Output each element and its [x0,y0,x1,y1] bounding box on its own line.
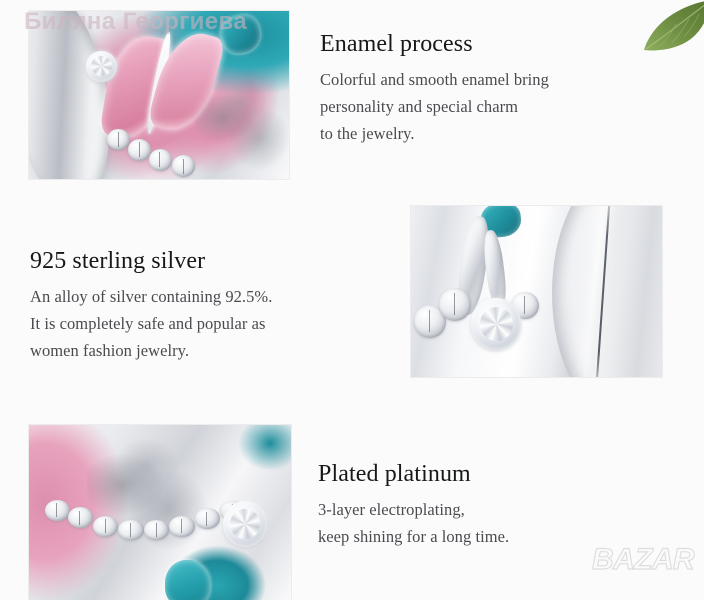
photo-platinum-content [29,425,291,600]
cubic-zirconia-stone [86,51,117,81]
feature-body-enamel: Colorful and smooth enamel bring persona… [320,67,660,147]
silver-bead [195,508,220,529]
silver-bead [172,155,195,177]
photo-sterling-content [411,206,662,377]
silver-bead [93,516,118,537]
feature-text-platinum: Plated platinum 3-layer electroplating, … [318,460,668,551]
feature-title-platinum: Plated platinum [318,460,668,488]
silver-bead [439,288,472,320]
silver-bead [144,520,169,541]
teal-enamel-accent [165,560,210,600]
silver-bead [169,516,194,537]
feature-body-sterling: An alloy of silver containing 92.5%. It … [30,284,370,364]
product-photo-sterling [410,205,663,378]
teal-enamel-accent [217,12,264,57]
silver-bead [68,507,93,528]
cubic-zirconia-stone [471,298,521,349]
silver-bead [149,149,172,171]
infographic-canvas: Enamel process Colorful and smooth ename… [0,0,704,600]
silver-bead [118,520,143,541]
product-photo-platinum [28,424,292,600]
feature-text-sterling: 925 sterling silver An alloy of silver c… [30,247,370,364]
photo-enamel-content [29,11,289,179]
feature-text-enamel: Enamel process Colorful and smooth ename… [320,30,660,147]
silver-prong [482,229,509,309]
silver-bead [128,139,151,161]
silver-bead [45,500,70,521]
silver-bead [107,129,130,151]
feature-body-platinum: 3-layer electroplating, keep shining for… [318,497,668,550]
feature-title-sterling: 925 sterling silver [30,247,370,275]
cubic-zirconia-stone [223,501,268,547]
feature-title-enamel: Enamel process [320,30,660,58]
product-photo-enamel [28,10,290,180]
